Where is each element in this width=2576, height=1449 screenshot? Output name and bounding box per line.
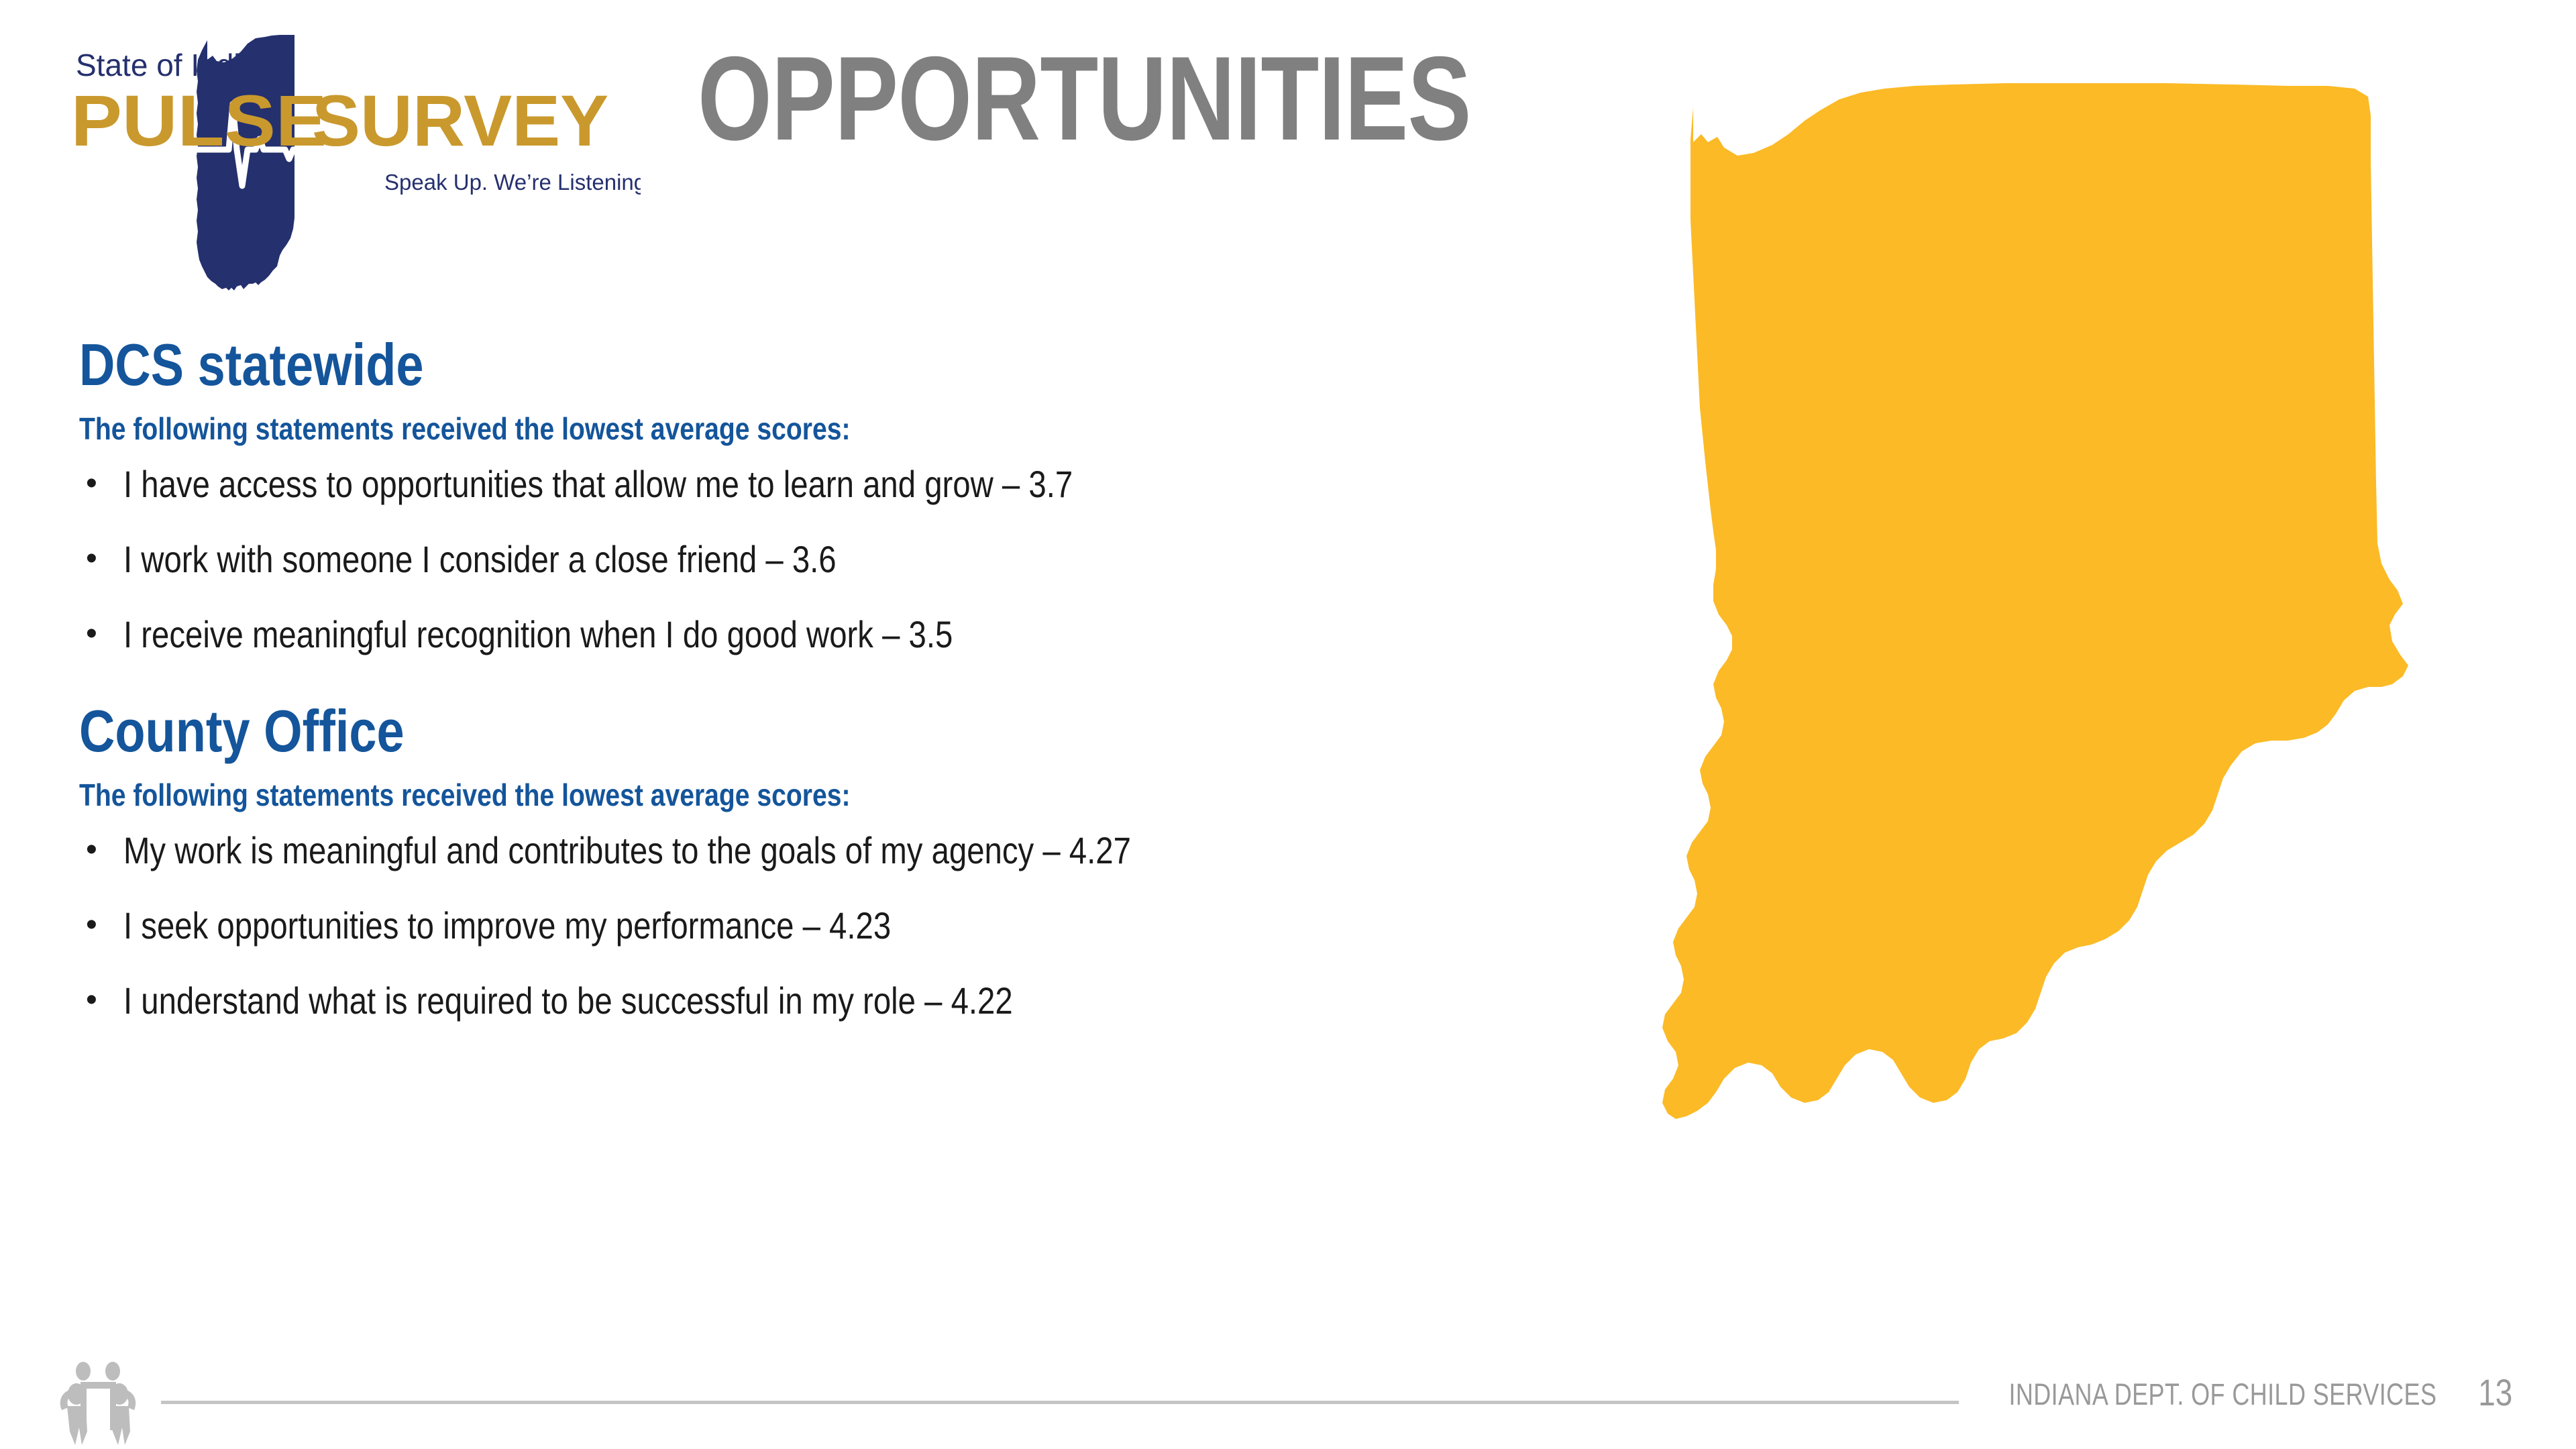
bullet-list-dcs: • I have access to opportunities that al…: [79, 465, 1703, 653]
bullet-dot-icon: •: [86, 540, 97, 577]
indiana-map-shape: [1662, 83, 2408, 1119]
list-item: • I work with someone I consider a close…: [79, 540, 1703, 578]
footer-organization: INDIANA DEPT. OF CHILD SERVICES: [2008, 1379, 2436, 1409]
list-item: • I seek opportunities to improve my per…: [79, 906, 1703, 945]
logo-tagline: Speak Up. We’re Listening.: [384, 170, 641, 195]
logo-state-line: State of Indiana: [76, 48, 292, 83]
list-item: • I understand what is required to be su…: [79, 981, 1703, 1020]
bullet-dot-icon: •: [86, 906, 97, 943]
slide-footer: INDIANA DEPT. OF CHILD SERVICES 13: [0, 1355, 2576, 1449]
list-item: • I have access to opportunities that al…: [79, 465, 1703, 503]
page-number: 13: [2478, 1374, 2512, 1411]
logo-word-survey: SURVEY: [312, 80, 608, 161]
list-item-text: I understand what is required to be succ…: [123, 981, 1013, 1020]
section-subheading-county: The following statements received the lo…: [79, 778, 1459, 812]
bullet-dot-icon: •: [86, 465, 97, 502]
indiana-state-map: [1657, 80, 2576, 1355]
family-icon: [55, 1362, 142, 1446]
pulse-survey-logo: State of Indiana PULSE SURVEY Speak Up. …: [64, 17, 641, 299]
bullet-dot-icon: •: [86, 831, 97, 868]
section-dcs-statewide: DCS statewide The following statements r…: [79, 335, 1703, 653]
section-heading-county: County Office: [79, 702, 1443, 761]
slide-content: DCS statewide The following statements r…: [79, 335, 1703, 1057]
bullet-dot-icon: •: [86, 981, 97, 1018]
footer-divider: [161, 1401, 1959, 1404]
logo-word-pulse: PULSE: [71, 80, 327, 161]
list-item-text: My work is meaningful and contributes to…: [123, 831, 1131, 869]
section-subheading-dcs: The following statements received the lo…: [79, 412, 1459, 446]
list-item-text: I work with someone I consider a close f…: [123, 540, 837, 578]
list-item: • My work is meaningful and contributes …: [79, 831, 1703, 869]
list-item-text: I receive meaningful recognition when I …: [123, 615, 953, 653]
section-county-office: County Office The following statements r…: [79, 702, 1703, 1020]
list-item: • I receive meaningful recognition when …: [79, 615, 1703, 653]
list-item-text: I seek opportunities to improve my perfo…: [123, 906, 891, 945]
bullet-list-county: • My work is meaningful and contributes …: [79, 831, 1703, 1020]
section-heading-dcs: DCS statewide: [79, 335, 1443, 394]
page-title: OPPORTUNITIES: [698, 39, 1471, 158]
bullet-dot-icon: •: [86, 615, 97, 652]
list-item-text: I have access to opportunities that allo…: [123, 465, 1073, 503]
